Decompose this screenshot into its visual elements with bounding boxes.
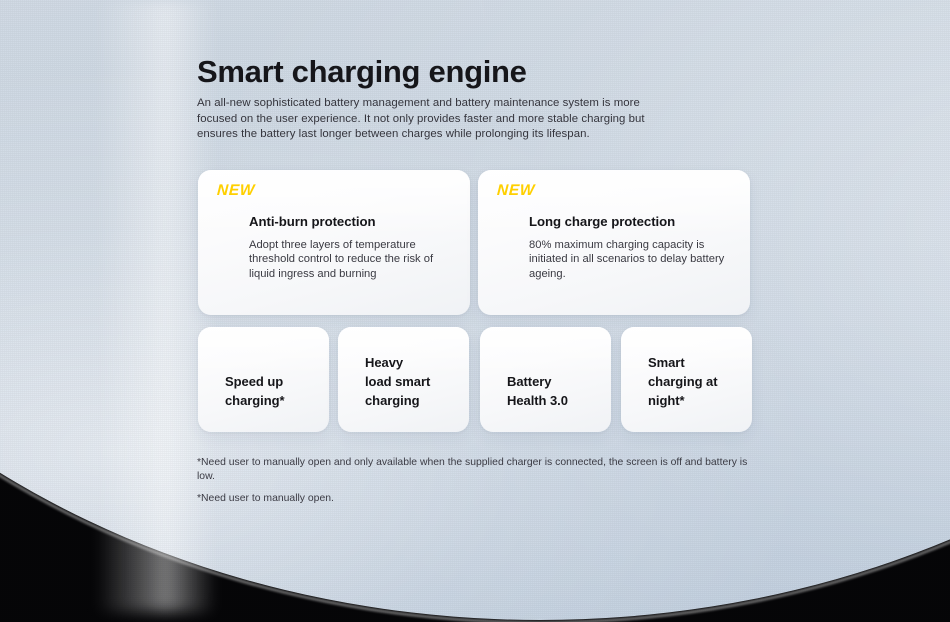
feature-card-description: Adopt three layers of temperature thresh… (249, 238, 449, 281)
footnotes: *Need user to manually open and only ava… (197, 456, 757, 506)
feature-chip-battery-health[interactable]: BatteryHealth 3.0 (480, 327, 611, 432)
page-title: Smart charging engine (197, 54, 527, 90)
feature-card-title: Long charge protection (529, 214, 675, 229)
feature-chip-heavy-load-smart-charging[interactable]: Heavyload smartcharging (338, 327, 469, 432)
page-intro-paragraph: An all-new sophisticated battery managem… (197, 96, 675, 142)
new-badge: NEW (217, 182, 256, 200)
footnote-item: *Need user to manually open and only ava… (197, 456, 757, 485)
feature-card-description: 80% maximum charging capacity is initiat… (529, 238, 729, 281)
new-badge: NEW (497, 182, 536, 200)
feature-chip-smart-charging-at-night[interactable]: Smartcharging atnight* (621, 327, 752, 432)
smart-charging-engine-page: Smart charging engine An all-new sophist… (0, 0, 950, 622)
feature-chip-label: Smartcharging atnight* (648, 353, 718, 410)
feature-chip-label: Speed upcharging* (225, 372, 285, 410)
feature-chip-label: BatteryHealth 3.0 (507, 372, 568, 410)
feature-card-anti-burn-protection[interactable]: NEW Anti-burn protection Adopt three lay… (198, 170, 470, 315)
feature-chip-label: Heavyload smartcharging (365, 353, 430, 410)
footnote-item: *Need user to manually open. (197, 492, 757, 506)
feature-card-title: Anti-burn protection (249, 214, 375, 229)
content-layer: Smart charging engine An all-new sophist… (0, 0, 950, 622)
feature-card-long-charge-protection[interactable]: NEW Long charge protection 80% maximum c… (478, 170, 750, 315)
feature-chip-speed-up-charging[interactable]: Speed upcharging* (198, 327, 329, 432)
